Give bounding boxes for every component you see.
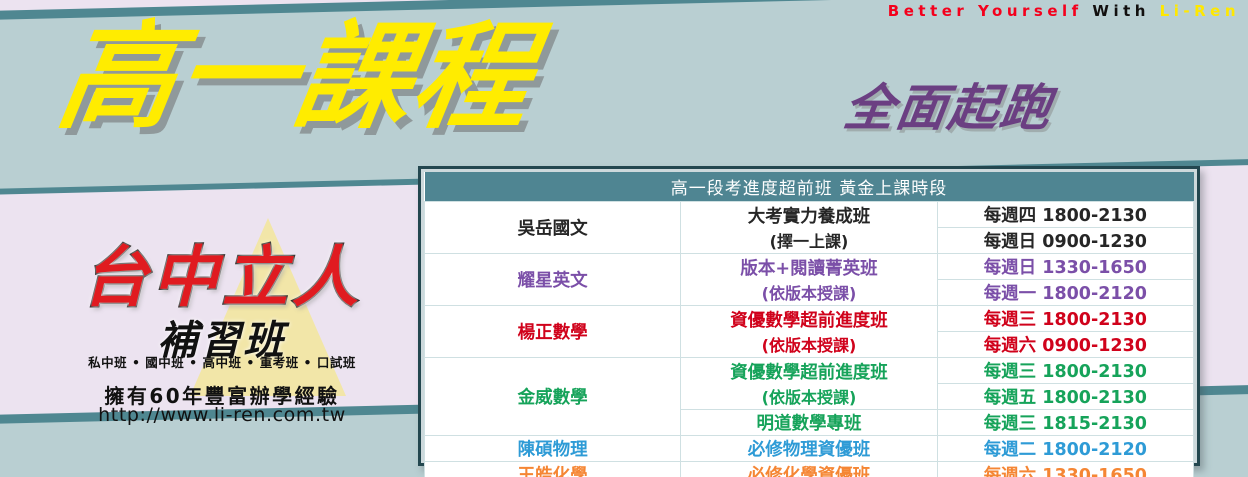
schedule-table: 高一段考進度超前班 黃金上課時段 吳岳國文大考實力養成班(擇一上課)每週四 18… [424, 172, 1194, 477]
course-note: (依版本授課) [683, 384, 934, 408]
cell-time: 每週二 1800-2120 [937, 436, 1193, 462]
table-row: 吳岳國文大考實力養成班(擇一上課)每週四 1800-2130 [425, 202, 1194, 228]
table-row: 耀星英文版本+閱讀菁英班(依版本授課)每週日 1330-1650 [425, 254, 1194, 280]
cell-teacher: 王皓化學 [425, 462, 681, 477]
course-note: (依版本授課) [683, 332, 934, 356]
poster-canvas: Better Yourself With Li-Ren 高一課程 全面起跑 台中… [0, 0, 1248, 477]
cell-course: 明道數學專班 [681, 410, 937, 436]
cell-course: 必修物理資優班 [681, 436, 937, 462]
cell-time: 每週三 1815-2130 [937, 410, 1193, 436]
schedule-table-frame: 高一段考進度超前班 黃金上課時段 吳岳國文大考實力養成班(擇一上課)每週四 18… [418, 166, 1200, 466]
course-name: 版本+閱讀菁英班 [683, 255, 934, 280]
course-name: 必修物理資優班 [683, 436, 934, 461]
table-row: 金威數學資優數學超前進度班(依版本授課)每週三 1800-2130 [425, 358, 1194, 384]
cell-time: 每週五 1800-2130 [937, 384, 1193, 410]
cell-time: 每週六 1330-1650 [937, 462, 1193, 477]
tagline: Better Yourself With Li-Ren [888, 2, 1240, 20]
cell-teacher: 耀星英文 [425, 254, 681, 306]
cell-time: 每週六 0900-1230 [937, 332, 1193, 358]
course-name: 明道數學專班 [683, 410, 934, 435]
tagline-part-better-yourself: Better Yourself [888, 2, 1093, 20]
cell-course: 資優數學超前進度班(依版本授課) [681, 358, 937, 410]
logo: 台中立人 補習班 私中班 • 國中班 • 高中班 • 重考班 • 口試班 擁有6… [42, 212, 402, 417]
cell-course: 版本+閱讀菁英班(依版本授課) [681, 254, 937, 306]
cell-time: 每週日 1330-1650 [937, 254, 1193, 280]
cell-time: 每週四 1800-2130 [937, 202, 1193, 228]
course-name: 大考實力養成班 [683, 203, 934, 228]
table-row: 陳碩物理必修物理資優班每週二 1800-2120 [425, 436, 1194, 462]
course-note: (擇一上課) [683, 228, 934, 252]
cell-course: 資優數學超前進度班(依版本授課) [681, 306, 937, 358]
table-row: 王皓化學必修化學資優班每週六 1330-1650 [425, 462, 1194, 477]
cell-teacher: 吳岳國文 [425, 202, 681, 254]
cell-course: 大考實力養成班(擇一上課) [681, 202, 937, 254]
cell-time: 每週三 1800-2130 [937, 358, 1193, 384]
course-note: (依版本授課) [683, 280, 934, 304]
tagline-part-li-ren: Li-Ren [1160, 2, 1240, 20]
cell-teacher: 楊正數學 [425, 306, 681, 358]
table-row: 楊正數學資優數學超前進度班(依版本授課)每週三 1800-2130 [425, 306, 1194, 332]
table-header-row: 高一段考進度超前班 黃金上課時段 [425, 172, 1194, 202]
logo-name: 台中立人 [42, 224, 402, 320]
cell-time: 每週日 0900-1230 [937, 228, 1193, 254]
cell-time: 每週三 1800-2130 [937, 306, 1193, 332]
page-title: 高一課程 [50, 17, 541, 139]
cell-teacher: 陳碩物理 [425, 436, 681, 462]
course-name: 必修化學資優班 [683, 462, 934, 477]
cell-time: 每週一 1800-2120 [937, 280, 1193, 306]
tagline-part-with: With [1092, 2, 1159, 20]
schedule-table-body: 吳岳國文大考實力養成班(擇一上課)每週四 1800-2130每週日 0900-1… [425, 202, 1194, 477]
course-name: 資優數學超前進度班 [683, 359, 934, 384]
logo-class-list: 私中班 • 國中班 • 高中班 • 重考班 • 口試班 [42, 352, 402, 371]
logo-website-url[interactable]: http://www.li-ren.com.tw [42, 404, 402, 426]
page-subtitle: 全面起跑 [840, 68, 1058, 140]
cell-teacher: 金威數學 [425, 358, 681, 436]
cell-course: 必修化學資優班 [681, 462, 937, 477]
course-name: 資優數學超前進度班 [683, 307, 934, 332]
table-header-title: 高一段考進度超前班 黃金上課時段 [425, 172, 1194, 202]
